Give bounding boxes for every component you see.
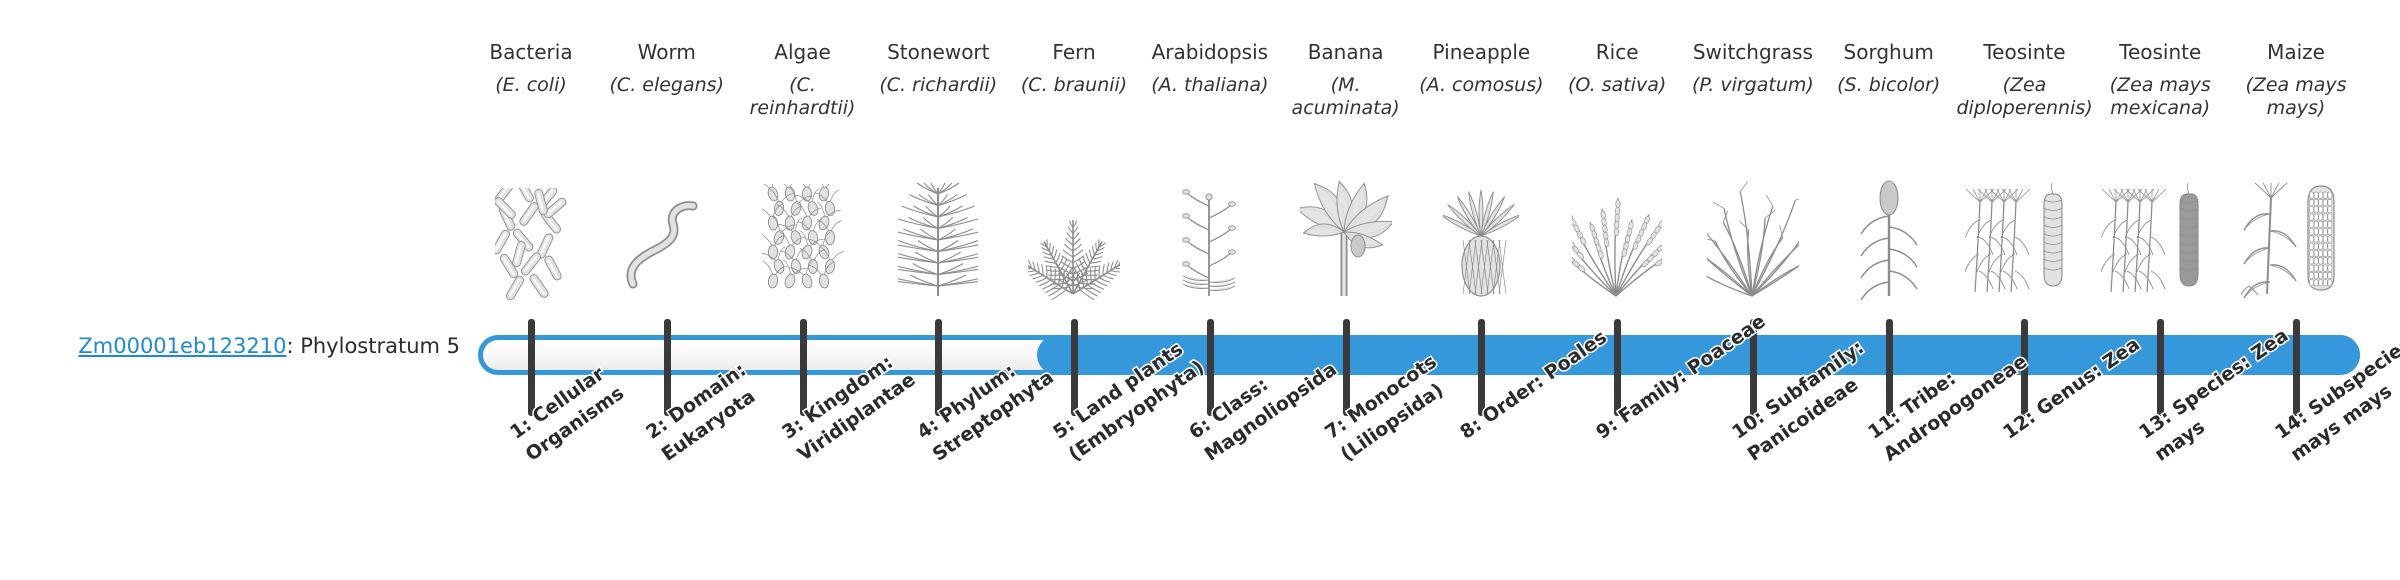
- species-column-switchgrass-10: Switchgrass (P. virgatum): [1685, 40, 1821, 124]
- species-scientific-name: (P. virgatum): [1685, 74, 1821, 124]
- species-common-name: Algae: [735, 40, 871, 66]
- teosinte-plant-ear-icon: [1956, 172, 2092, 300]
- species-common-name: Teosinte: [2092, 40, 2228, 66]
- species-scientific-name: (Zea diploperennis): [1956, 74, 2092, 124]
- species-scientific-name: (C. richardii): [870, 74, 1006, 124]
- species-scientific-name: (C. elegans): [599, 74, 735, 124]
- species-common-name: Banana: [1278, 40, 1414, 66]
- species-scientific-name: (E. coli): [463, 74, 599, 124]
- species-scientific-name: (A. thaliana): [1142, 74, 1278, 124]
- species-column-teosinte-13: Teosinte (Zea mays mexicana): [2092, 40, 2228, 124]
- species-common-name: Pineapple: [1413, 40, 1549, 66]
- species-column-worm-2: Worm (C. elegans): [599, 40, 735, 124]
- species-scientific-name: (Zea mays mays): [2228, 74, 2364, 124]
- species-common-name: Teosinte: [1956, 40, 2092, 66]
- green-algae-cells-icon: [735, 172, 871, 300]
- species-common-name: Bacteria: [463, 40, 599, 66]
- species-common-name: Maize: [2228, 40, 2364, 66]
- fern-frond-icon: [1006, 172, 1142, 300]
- species-scientific-name: (Zea mays mexicana): [2092, 74, 2228, 124]
- species-column-banana-7: Banana (M. acuminata): [1278, 40, 1414, 124]
- gene-accession-link[interactable]: Zm00001eb123210: [78, 334, 286, 358]
- teosinte-mexicana-ear-icon: [2092, 172, 2228, 300]
- species-column-algae-3: Algae (C. reinhardtii): [735, 40, 871, 124]
- bacteria-rods-icon: [463, 172, 599, 300]
- stonewort-alga-icon: [870, 172, 1006, 300]
- nematode-worm-icon: [599, 172, 735, 300]
- species-common-name: Arabidopsis: [1142, 40, 1278, 66]
- gene-label-separator: :: [286, 334, 300, 358]
- species-common-name: Rice: [1549, 40, 1685, 66]
- phylostratum-figure: Zm00001eb123210: Phylostratum 5 Bacteria…: [0, 0, 2400, 580]
- species-column-pineapple-8: Pineapple (A. comosus): [1413, 40, 1549, 124]
- species-scientific-name: (A. comosus): [1413, 74, 1549, 124]
- gene-phylostratum-label: Zm00001eb123210: Phylostratum 5: [40, 334, 460, 358]
- species-common-name: Worm: [599, 40, 735, 66]
- phylostratum-value-text: Phylostratum 5: [300, 334, 460, 358]
- banana-palm-icon: [1278, 172, 1414, 300]
- species-common-name: Sorghum: [1821, 40, 1957, 66]
- rice-grass-icon: [1549, 172, 1685, 300]
- species-column-fern-5: Fern (C. braunii): [1006, 40, 1142, 124]
- species-column-rice-9: Rice (O. sativa): [1549, 40, 1685, 124]
- species-common-name: Switchgrass: [1685, 40, 1821, 66]
- species-column-stonewort-4: Stonewort (C. richardii): [870, 40, 1006, 124]
- pineapple-plant-icon: [1413, 172, 1549, 300]
- species-column-maize-14: Maize (Zea mays mays): [2228, 40, 2364, 124]
- species-common-name: Fern: [1006, 40, 1142, 66]
- species-column-sorghum-11: Sorghum (S. bicolor): [1821, 40, 1957, 124]
- phylostratum-tick-1[interactable]: [528, 319, 535, 416]
- species-scientific-name: (M. acuminata): [1278, 74, 1414, 124]
- species-common-name: Stonewort: [870, 40, 1006, 66]
- switchgrass-clump-icon: [1685, 172, 1821, 300]
- species-column-arabidopsis-6: Arabidopsis (A. thaliana): [1142, 40, 1278, 124]
- species-scientific-name: (C. reinhardtii): [735, 74, 871, 124]
- species-column-teosinte-12: Teosinte (Zea diploperennis): [1956, 40, 2092, 124]
- species-scientific-name: (S. bicolor): [1821, 74, 1957, 124]
- species-column-bacteria-1: Bacteria (E. coli): [463, 40, 599, 124]
- species-scientific-name: (O. sativa): [1549, 74, 1685, 124]
- species-scientific-name: (C. braunii): [1006, 74, 1142, 124]
- sorghum-plant-icon: [1821, 172, 1957, 300]
- maize-plant-cob-icon: [2228, 172, 2364, 300]
- arabidopsis-rosette-icon: [1142, 172, 1278, 300]
